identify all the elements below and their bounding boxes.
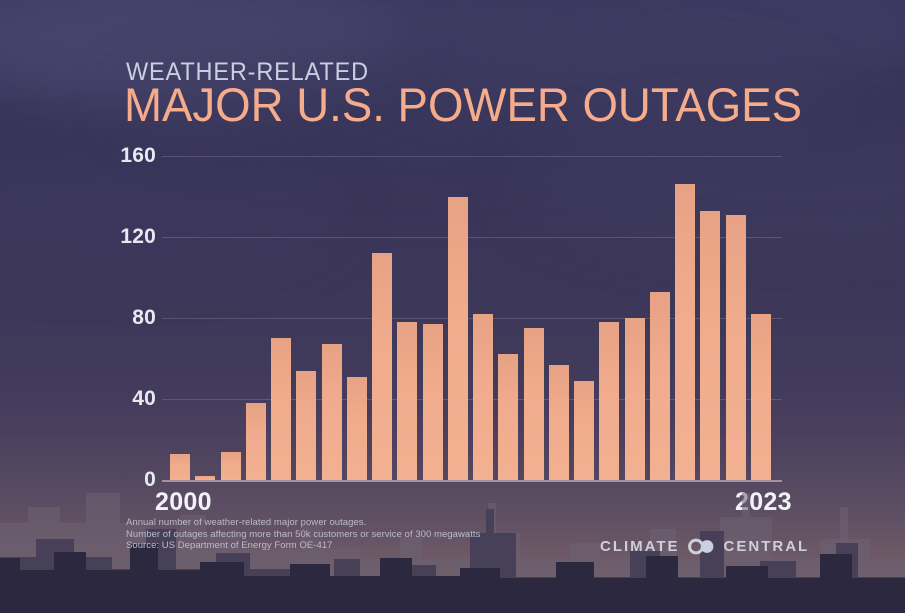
bar [473, 314, 493, 480]
y-axis-tick-label: 160 [110, 144, 156, 168]
chart-notes: Annual number of weather-related major p… [126, 517, 480, 552]
y-axis-tick-label: 40 [110, 387, 156, 411]
note-line-1: Annual number of weather-related major p… [126, 517, 480, 529]
bar [423, 324, 443, 480]
infographic-canvas: 04080120160 2000 2023 WEATHER-RELATED MA… [0, 0, 905, 613]
two-interlocking-rings-icon [687, 538, 717, 555]
brand-name-left: CLIMATE [600, 538, 680, 555]
bar [322, 344, 342, 480]
bar [372, 253, 392, 480]
gridline [162, 156, 782, 157]
bar [700, 211, 720, 480]
bar [524, 328, 544, 480]
bar [675, 184, 695, 480]
brand-logo: CLIMATE CENTRAL [600, 538, 809, 555]
note-line-3: Source: US Department of Energy Form OE-… [126, 540, 480, 552]
bar [650, 292, 670, 480]
bar [397, 322, 417, 480]
bar [271, 338, 291, 480]
bar [625, 318, 645, 480]
bar [498, 354, 518, 480]
brand-name-right: CENTRAL [724, 538, 810, 555]
page-title: MAJOR U.S. POWER OUTAGES [124, 80, 802, 130]
bar [751, 314, 771, 480]
bar [448, 197, 468, 481]
bar [726, 215, 746, 480]
y-axis-tick-label: 120 [110, 225, 156, 249]
bar [599, 322, 619, 480]
note-line-2: Number of outages affecting more than 50… [126, 529, 480, 541]
y-axis-tick-label: 80 [110, 306, 156, 330]
